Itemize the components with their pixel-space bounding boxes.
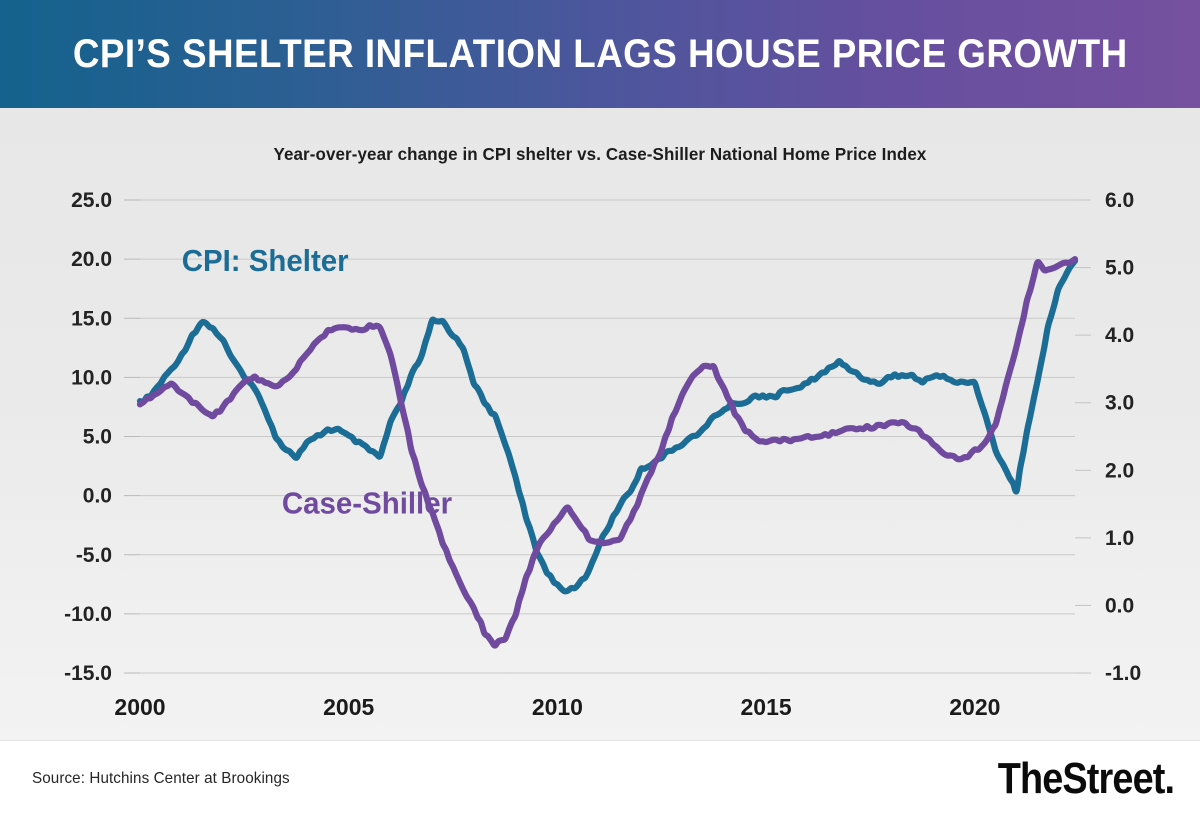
page-title: CPI’S SHELTER INFLATION LAGS HOUSE PRICE… bbox=[73, 34, 1128, 74]
y-axis-right-tick-label: 0.0 bbox=[1105, 594, 1134, 617]
series-annotation-cpi-shelter: CPI: Shelter bbox=[182, 244, 349, 278]
y-axis-left-tick-label: 15.0 bbox=[71, 307, 112, 330]
x-axis-tick-label: 2010 bbox=[532, 694, 583, 720]
y-axis-left-tick-label: 5.0 bbox=[83, 426, 112, 449]
y-axis-right-tick-label: 3.0 bbox=[1105, 392, 1134, 415]
source-note: Source: Hutchins Center at Brookings bbox=[32, 770, 290, 788]
y-axis-right-tick-label: 5.0 bbox=[1105, 257, 1134, 280]
chart-page: CPI’S SHELTER INFLATION LAGS HOUSE PRICE… bbox=[0, 0, 1200, 820]
y-axis-left-tick-label: 20.0 bbox=[71, 248, 112, 271]
y-axis-right-tick-label: -1.0 bbox=[1105, 662, 1141, 685]
x-axis-tick-label: 2020 bbox=[949, 694, 1000, 720]
y-axis-left-tick-label: 0.0 bbox=[83, 485, 112, 508]
y-axis-right-tick-label: 1.0 bbox=[1105, 527, 1134, 550]
series-line-case-shiller bbox=[140, 259, 1075, 645]
chart-panel: Year-over-year change in CPI shelter vs.… bbox=[0, 108, 1200, 740]
chart-svg: 25.020.015.010.05.00.0-5.0-10.0-15.06.05… bbox=[0, 108, 1200, 740]
y-axis-left-tick-label: 25.0 bbox=[71, 189, 112, 212]
y-axis-left-tick-label: 10.0 bbox=[71, 366, 112, 389]
y-axis-right-tick-label: 6.0 bbox=[1105, 189, 1134, 212]
series-annotation-case-shiller: Case-Shiller bbox=[282, 487, 452, 521]
y-axis-left-tick-label: -5.0 bbox=[76, 544, 112, 567]
x-axis-tick-label: 2000 bbox=[114, 694, 165, 720]
brand-dot: . bbox=[1164, 754, 1174, 803]
x-axis-tick-label: 2005 bbox=[323, 694, 374, 720]
y-axis-left-tick-label: -15.0 bbox=[64, 662, 112, 685]
footer: Source: Hutchins Center at Brookings The… bbox=[0, 740, 1200, 820]
y-axis-right-tick-label: 2.0 bbox=[1105, 459, 1134, 482]
footer-divider bbox=[0, 740, 1200, 741]
header-band: CPI’S SHELTER INFLATION LAGS HOUSE PRICE… bbox=[0, 0, 1200, 108]
plot-area: 25.020.015.010.05.00.0-5.0-10.0-15.06.05… bbox=[0, 108, 1200, 740]
x-axis-tick-label: 2015 bbox=[741, 694, 792, 720]
brand-logo: TheStreet. bbox=[998, 754, 1174, 804]
y-axis-right-tick-label: 4.0 bbox=[1105, 324, 1134, 347]
brand-name: TheStreet bbox=[998, 754, 1165, 803]
y-axis-left-tick-label: -10.0 bbox=[64, 603, 112, 626]
